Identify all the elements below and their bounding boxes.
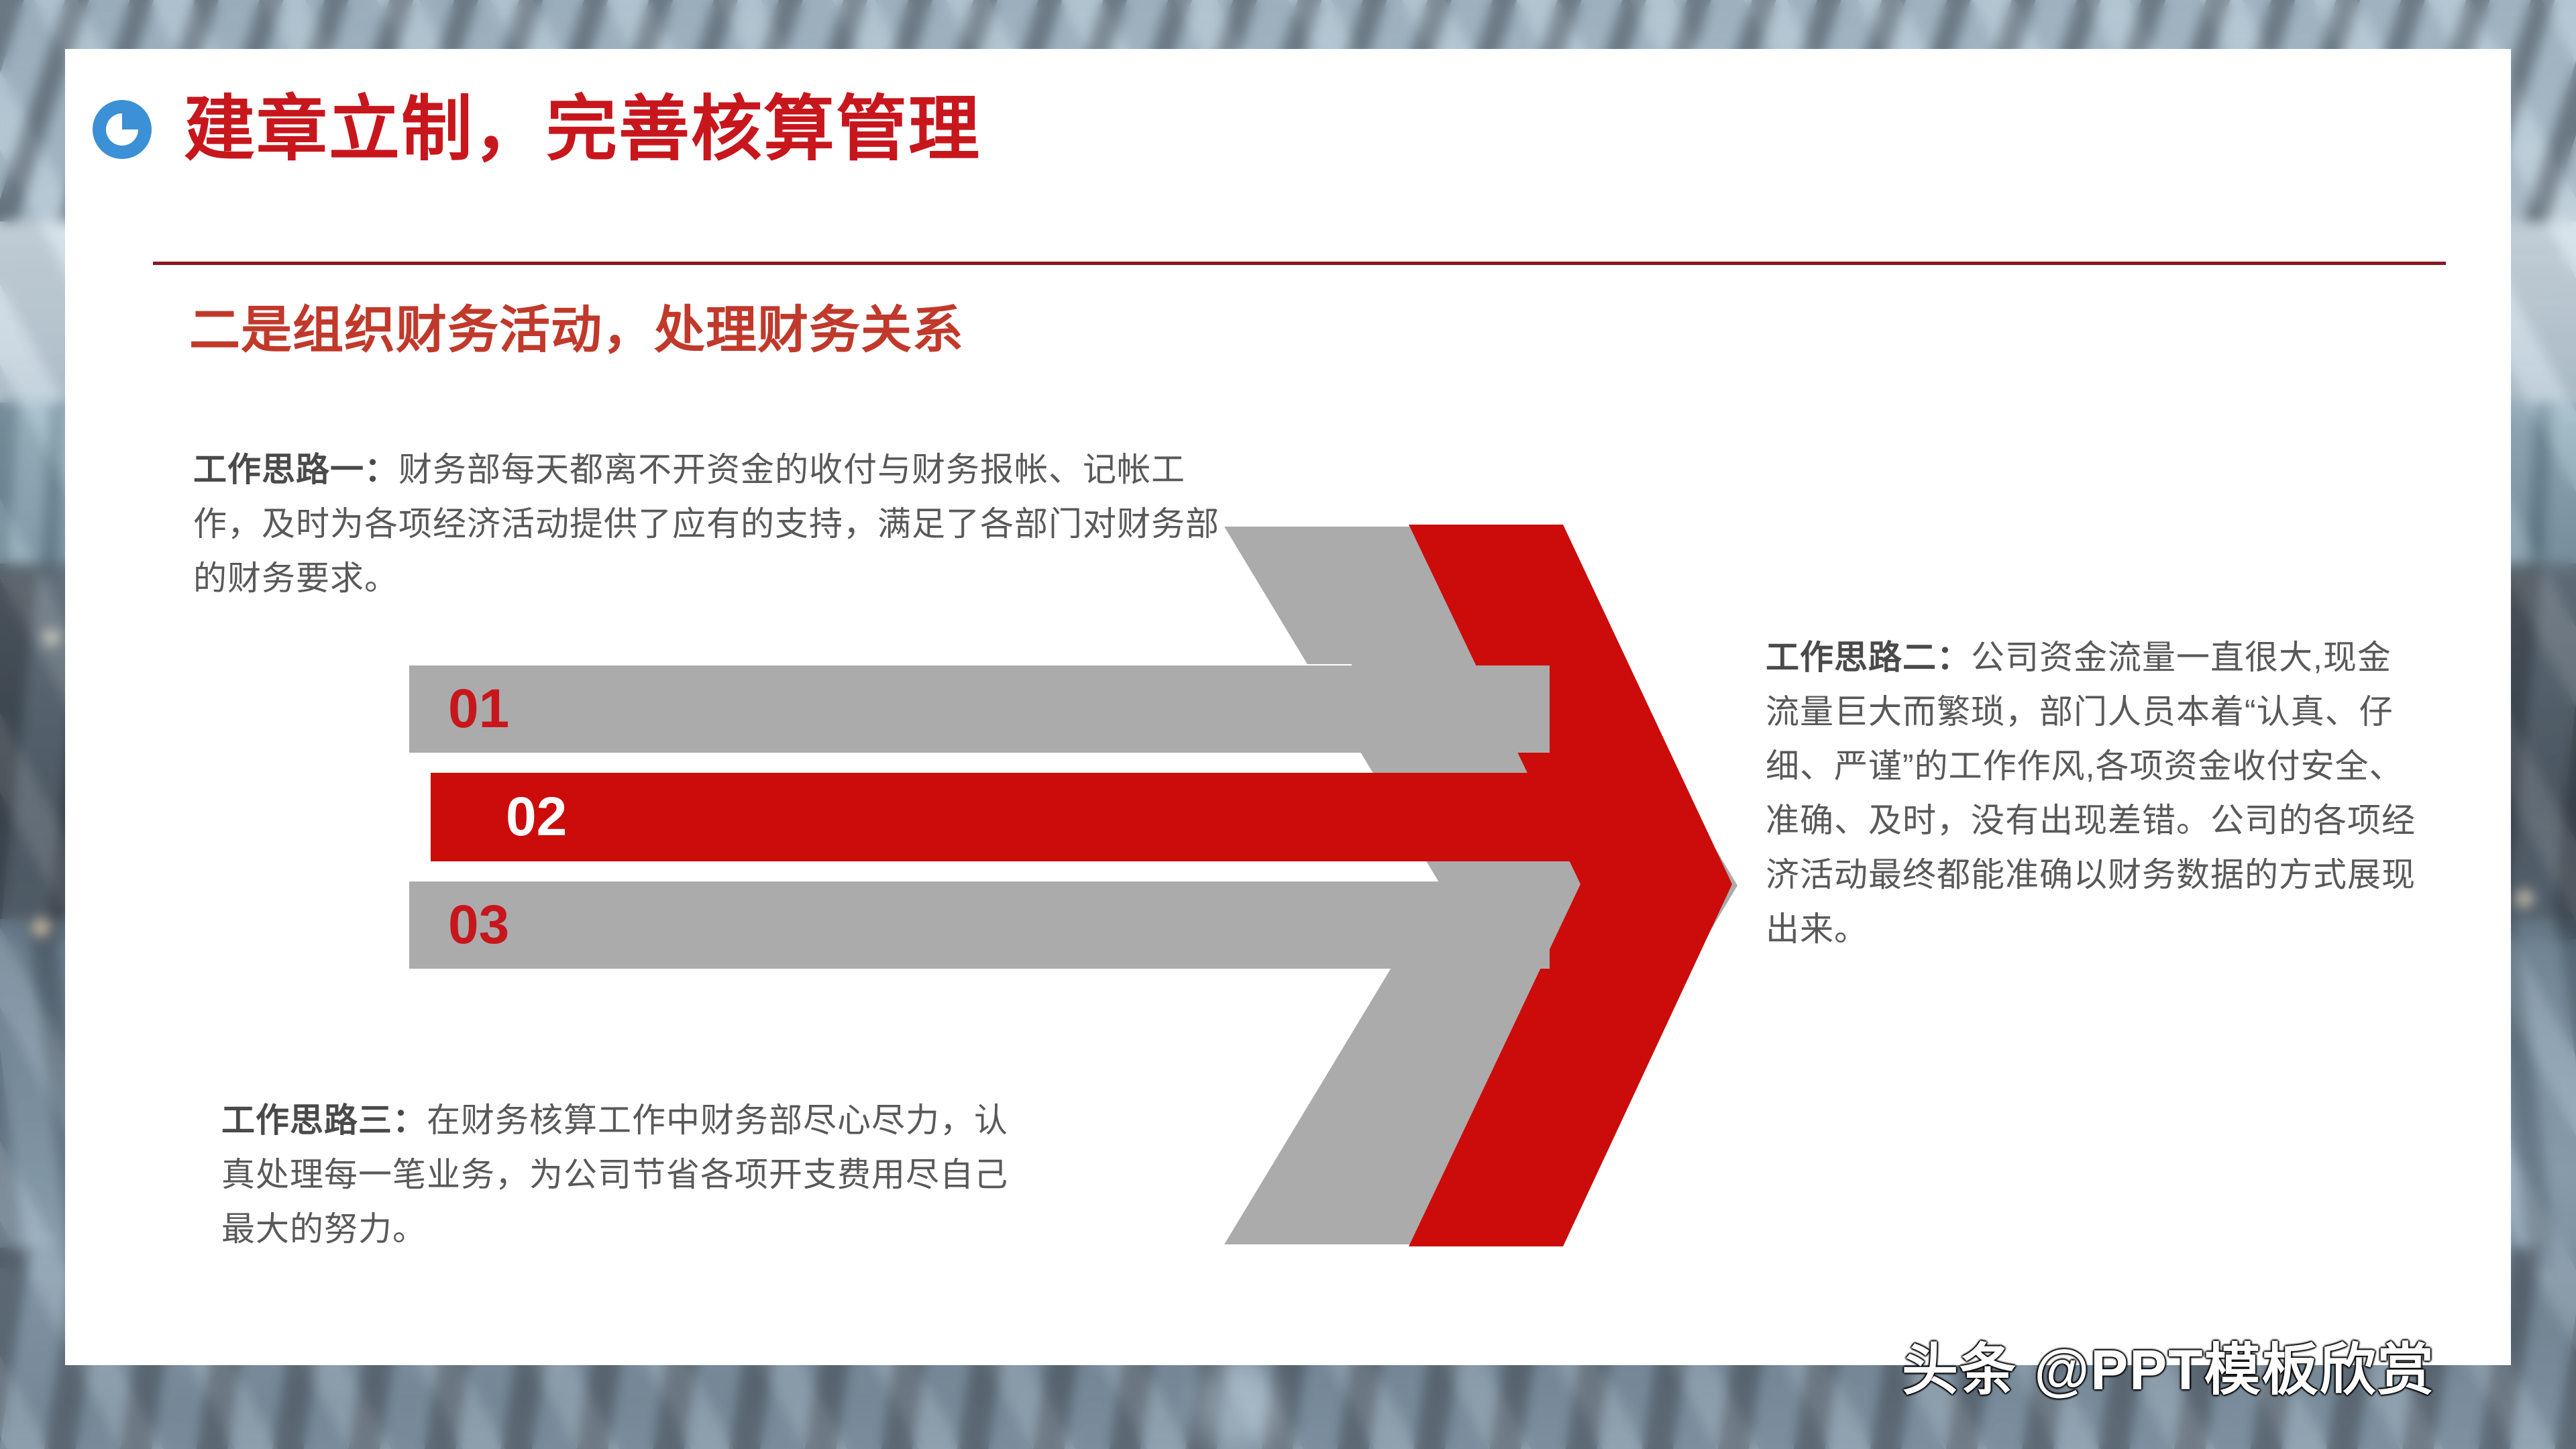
slide-header: 建章立制，完善核算管理 (93, 94, 981, 165)
pie-chart-icon (93, 100, 152, 159)
thought-two-label: 工作思路二： (1766, 639, 1971, 676)
thought-one-block: 工作思路一：财务部每天都离不开资金的收付与财务报帐、记帐工作，及时为各项经济活动… (193, 443, 1240, 606)
step-bar-01[interactable]: 01 (409, 665, 1550, 753)
page-title: 建章立制，完善核算管理 (184, 94, 981, 165)
thought-three-label: 工作思路三： (221, 1102, 427, 1139)
thought-two-body: 公司资金流量一直很大,现金流量巨大而繁琐，部门人员本着“认真、仔细、严谨”的工作… (1766, 639, 2416, 948)
step-bar-03[interactable]: 03 (409, 881, 1550, 969)
step-number-01: 01 (448, 682, 509, 737)
thought-three-block: 工作思路三：在财务核算工作中财务部尽心尽力，认真处理每一笔业务，为公司节省各项开… (221, 1093, 1040, 1256)
step-bar-02[interactable]: 02 (431, 773, 1625, 861)
slide-subtitle: 二是组织财务活动，处理财务关系 (189, 305, 964, 356)
step-number-03: 03 (448, 898, 509, 953)
title-divider (153, 262, 2446, 265)
watermark-text: 头条 @PPT模板欣赏 (1902, 1325, 2435, 1406)
thought-one-label: 工作思路一： (193, 451, 398, 488)
thought-two-block: 工作思路二：公司资金流量一直很大,现金流量巨大而繁琐，部门人员本着“认真、仔细、… (1766, 631, 2423, 957)
pie-chart-icon-wedge (122, 113, 138, 129)
step-number-02: 02 (506, 790, 567, 845)
